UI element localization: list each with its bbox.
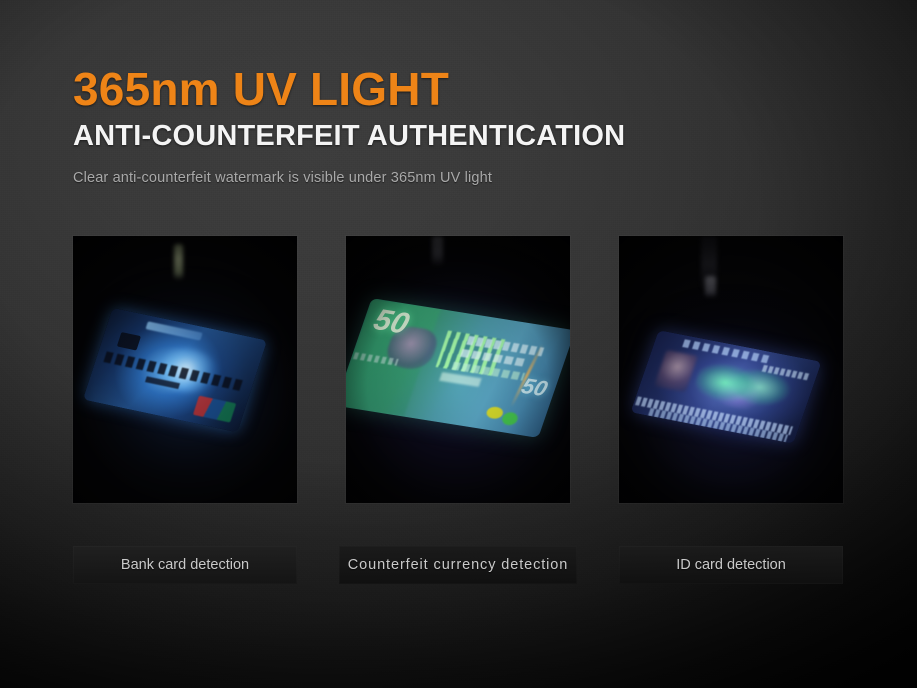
bank-logo-icon — [145, 321, 202, 340]
caption-currency: Counterfeit currency detection — [339, 546, 577, 584]
banknote-object: 50 50 — [346, 298, 570, 438]
page-title: 365nm UV LIGHT — [73, 62, 625, 116]
uv-torch-tip-icon — [705, 276, 716, 298]
uv-fluorescent-dot-green — [500, 411, 519, 426]
header-block: 365nm UV LIGHT ANTI-COUNTERFEIT AUTHENTI… — [73, 62, 625, 188]
caption-id-card: ID card detection — [619, 546, 843, 584]
id-card-object — [630, 330, 821, 444]
gallery-item-currency[interactable]: 50 50 — [346, 236, 570, 503]
bank-card-object — [83, 308, 267, 433]
photo-id-card — [619, 236, 843, 503]
banknote-denomination-word — [439, 372, 481, 387]
id-portrait-photo — [654, 350, 698, 392]
unionpay-logo-icon — [193, 396, 236, 423]
photo-banknote: 50 50 — [346, 236, 570, 503]
gallery-item-bank-card[interactable] — [73, 236, 297, 503]
page-subtitle: ANTI-COUNTERFEIT AUTHENTICATION — [73, 116, 625, 154]
banknote-value-right: 50 — [519, 375, 550, 400]
gallery-item-id-card[interactable] — [619, 236, 843, 503]
uv-torch-icon — [701, 236, 717, 290]
page-description: Clear anti-counterfeit watermark is visi… — [73, 154, 625, 188]
uv-light-feature-slide: 365nm UV LIGHT ANTI-COUNTERFEIT AUTHENTI… — [0, 0, 917, 688]
emv-chip-icon — [117, 332, 141, 351]
uv-torch-icon — [174, 244, 183, 280]
caption-bank-card: Bank card detection — [73, 546, 297, 584]
photo-bank-card — [73, 236, 297, 503]
uv-torch-icon — [432, 236, 443, 266]
